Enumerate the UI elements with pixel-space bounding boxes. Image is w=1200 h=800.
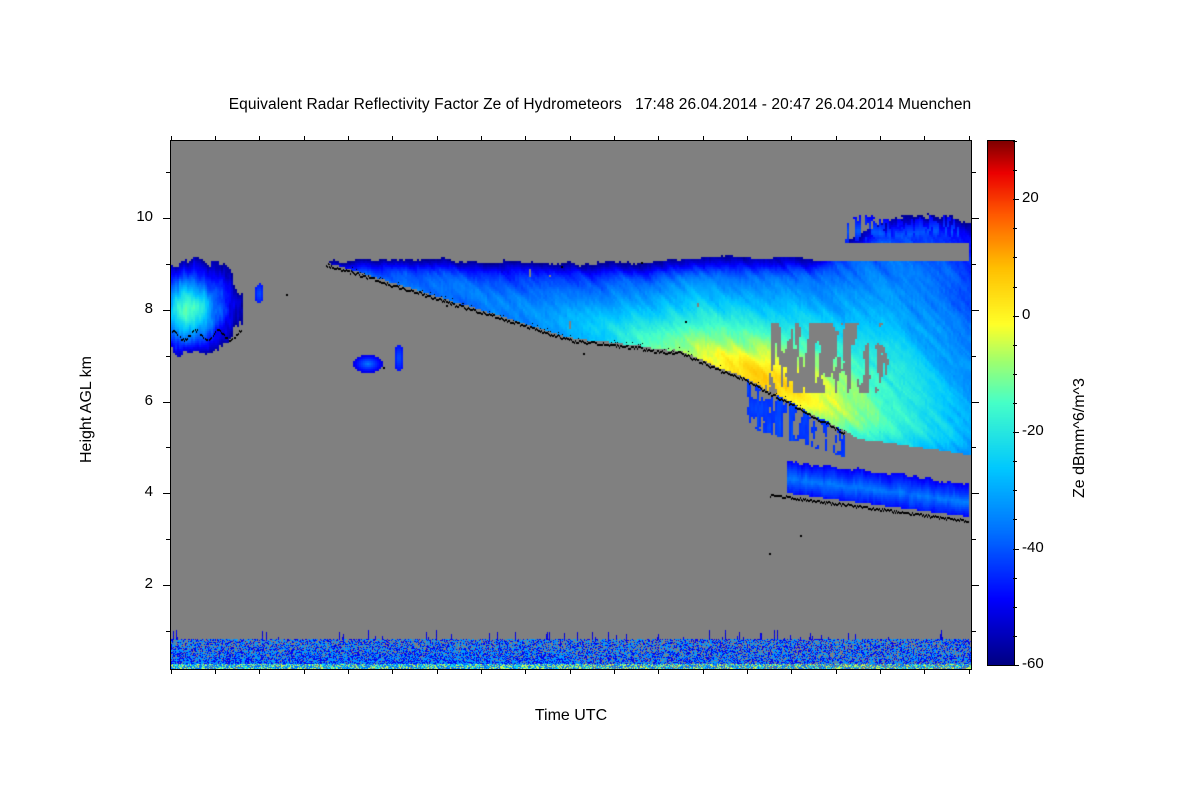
y-axis-title: Height AGL km (78, 356, 96, 463)
x-axis-tick-minor (570, 669, 571, 674)
colorbar-tick-minor (1013, 578, 1017, 579)
radar-heatmap-plot (170, 140, 972, 670)
colorbar-tick-major (1013, 432, 1019, 433)
x-axis-top-tick-minor (525, 136, 526, 141)
colorbar-tick-minor (1013, 461, 1017, 462)
y-axis-tick-label: 2 (113, 575, 153, 592)
colorbar-tick-label: -20 (1022, 422, 1044, 439)
x-axis-tick-minor (481, 669, 482, 674)
y-axis-right-tick-major (971, 310, 979, 311)
x-axis-top-tick-minor (259, 136, 260, 141)
x-axis-top-tick-minor (348, 136, 349, 141)
heatmap-pixels (171, 141, 971, 669)
x-axis-top-tick-minor (570, 136, 571, 141)
y-axis-tick-minor (166, 264, 171, 265)
x-axis-tick-minor (614, 669, 615, 674)
colorbar-tick-minor (1013, 141, 1017, 142)
x-axis-top-tick-minor (924, 136, 925, 141)
x-axis-top-tick-minor (791, 136, 792, 141)
y-axis-tick-minor (166, 172, 171, 173)
y-axis-right-tick-minor (971, 539, 976, 540)
y-axis-right-tick-minor (971, 631, 976, 632)
x-axis-top-tick-minor (747, 136, 748, 141)
colorbar-tick-minor (1013, 374, 1017, 375)
x-axis-top-tick-minor (437, 136, 438, 141)
x-axis-title: Time UTC (511, 707, 631, 725)
x-axis-top-tick-minor (304, 136, 305, 141)
x-axis-tick-minor (171, 669, 172, 674)
x-axis-tick-minor (969, 669, 970, 674)
y-axis-right-tick-major (971, 402, 979, 403)
y-axis-right-tick-major (971, 218, 979, 219)
y-axis-tick-label: 10 (113, 208, 153, 225)
y-axis-right-tick-minor (971, 172, 976, 173)
colorbar-tick-major (1013, 199, 1019, 200)
y-axis-tick-label: 8 (113, 300, 153, 317)
y-axis-tick-major (163, 585, 171, 586)
y-axis-right-tick-minor (971, 447, 976, 448)
colorbar-tick-label: -60 (1022, 655, 1044, 672)
colorbar-tick-label: -40 (1022, 539, 1044, 556)
x-axis-tick-minor (924, 669, 925, 674)
figure-canvas: Equivalent Radar Reflectivity Factor Ze … (0, 0, 1200, 800)
x-axis-tick-minor (348, 669, 349, 674)
x-axis-top-tick-minor (215, 136, 216, 141)
y-axis-tick-major (163, 218, 171, 219)
chart-title: Equivalent Radar Reflectivity Factor Ze … (0, 96, 1200, 114)
x-axis-top-tick-minor (392, 136, 393, 141)
y-axis-tick-label: 6 (113, 392, 153, 409)
y-axis-right-tick-minor (971, 356, 976, 357)
colorbar-tick-minor (1013, 636, 1017, 637)
x-axis-tick-minor (747, 669, 748, 674)
y-axis-tick-minor (166, 447, 171, 448)
colorbar-gradient (988, 141, 1014, 665)
colorbar-tick-minor (1013, 170, 1017, 171)
x-axis-top-tick-minor (658, 136, 659, 141)
x-axis-tick-minor (215, 669, 216, 674)
colorbar-tick-minor (1013, 490, 1017, 491)
x-axis-tick-minor (880, 669, 881, 674)
x-axis-tick-minor (525, 669, 526, 674)
colorbar-tick-minor (1013, 607, 1017, 608)
y-axis-tick-label: 4 (113, 483, 153, 500)
x-axis-top-tick-minor (703, 136, 704, 141)
x-axis-tick-minor (791, 669, 792, 674)
x-axis-top-tick-minor (836, 136, 837, 141)
y-axis-tick-minor (166, 356, 171, 357)
colorbar-tick-minor (1013, 287, 1017, 288)
y-axis-tick-major (163, 402, 171, 403)
x-axis-top-tick-minor (171, 136, 172, 141)
x-axis-top-tick-minor (880, 136, 881, 141)
colorbar-tick-minor (1013, 257, 1017, 258)
x-axis-top-tick-minor (481, 136, 482, 141)
colorbar-tick-minor (1013, 228, 1017, 229)
colorbar-tick-label: 20 (1022, 189, 1039, 206)
x-axis-top-tick-minor (969, 136, 970, 141)
colorbar-tick-minor (1013, 519, 1017, 520)
colorbar-tick-major (1013, 665, 1019, 666)
y-axis-tick-major (163, 493, 171, 494)
x-axis-top-tick-minor (614, 136, 615, 141)
colorbar-title: Ze dBmm^6/m^3 (1071, 378, 1089, 498)
x-axis-tick-minor (658, 669, 659, 674)
colorbar-tick-major (1013, 316, 1019, 317)
y-axis-right-tick-minor (971, 264, 976, 265)
x-axis-tick-minor (304, 669, 305, 674)
colorbar-tick-minor (1013, 345, 1017, 346)
colorbar (987, 140, 1015, 666)
y-axis-right-tick-major (971, 585, 979, 586)
y-axis-tick-minor (166, 539, 171, 540)
colorbar-tick-major (1013, 549, 1019, 550)
x-axis-tick-minor (836, 669, 837, 674)
colorbar-tick-minor (1013, 403, 1017, 404)
x-axis-tick-minor (259, 669, 260, 674)
y-axis-tick-minor (166, 631, 171, 632)
y-axis-right-tick-major (971, 493, 979, 494)
x-axis-tick-minor (703, 669, 704, 674)
x-axis-tick-minor (392, 669, 393, 674)
colorbar-tick-label: 0 (1022, 306, 1030, 323)
x-axis-tick-minor (437, 669, 438, 674)
y-axis-tick-major (163, 310, 171, 311)
